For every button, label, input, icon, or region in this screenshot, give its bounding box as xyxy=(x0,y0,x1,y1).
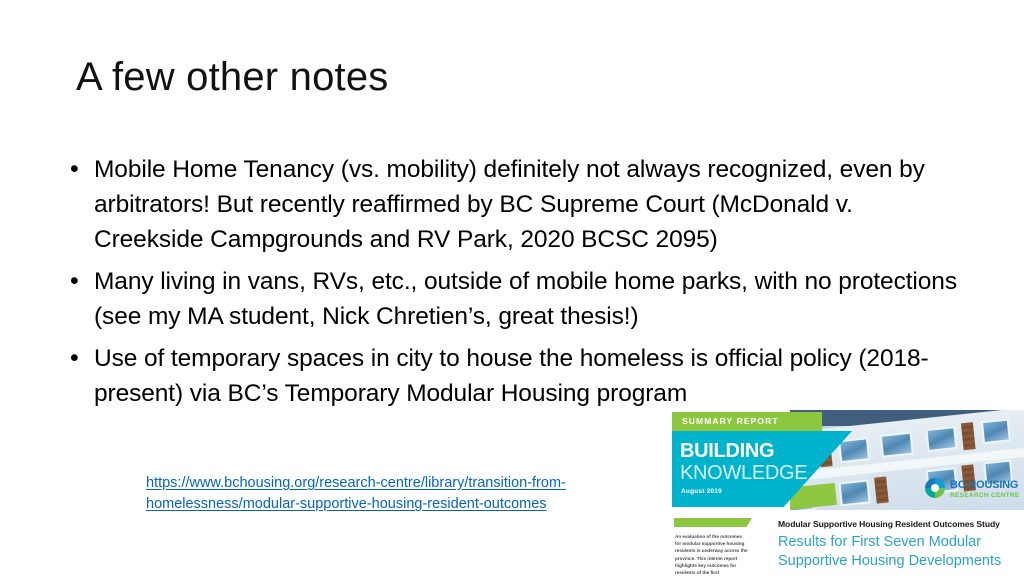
photo-window xyxy=(925,426,957,452)
bc-housing-logo-subtitle: RESEARCH CENTRE xyxy=(950,492,1020,499)
list-item: • Many living in vans, RVs, etc., outsid… xyxy=(70,264,960,334)
green-accent-bar xyxy=(674,518,752,527)
photo-window xyxy=(880,432,914,458)
slide-canvas: A few other notes • Mobile Home Tenancy … xyxy=(0,0,1024,576)
photo-window xyxy=(981,418,1011,444)
report-title-bold: BUILDING xyxy=(680,440,774,463)
summary-report-label: SUMMARY REPORT xyxy=(682,416,779,426)
report-blurb-text: An evaluation of the outcomes for modula… xyxy=(675,533,749,576)
list-item: • Mobile Home Tenancy (vs. mobility) def… xyxy=(70,152,960,257)
bullet-icon: • xyxy=(70,152,94,187)
bullet-icon: • xyxy=(70,264,94,299)
report-cover-header: SUMMARY REPORT BUILDING KNOWLEDGE August… xyxy=(670,410,1024,510)
photo-wood-panel xyxy=(874,477,889,504)
study-kicker-text: Modular Supportive Housing Resident Outc… xyxy=(778,519,1000,529)
report-title-panel: SUMMARY REPORT BUILDING KNOWLEDGE August… xyxy=(670,410,854,510)
page-title: A few other notes xyxy=(76,54,388,100)
bc-housing-logo-icon xyxy=(925,478,945,498)
report-cover-image: SUMMARY REPORT BUILDING KNOWLEDGE August… xyxy=(670,410,1024,576)
report-title-light: KNOWLEDGE xyxy=(680,462,807,485)
study-title-text: Results for First Seven Modular Supporti… xyxy=(778,533,1022,571)
bc-housing-logo: BC HOUSING RESEARCH CENTRE xyxy=(925,476,1021,506)
report-cover-body: An evaluation of the outcomes for modula… xyxy=(670,514,1024,576)
bullet-list: • Mobile Home Tenancy (vs. mobility) def… xyxy=(70,152,960,418)
source-link-block: https://www.bchousing.org/research-centr… xyxy=(146,473,646,515)
bc-housing-logo-name: BC HOUSING xyxy=(950,479,1018,491)
bullet-text: Use of temporary spaces in city to house… xyxy=(94,341,960,411)
bchousing-report-link[interactable]: https://www.bchousing.org/research-centr… xyxy=(146,475,566,512)
bullet-text: Many living in vans, RVs, etc., outside … xyxy=(94,264,960,334)
list-item: • Use of temporary spaces in city to hou… xyxy=(70,341,960,411)
photo-wood-panel xyxy=(961,422,976,450)
report-date: August 2019 xyxy=(681,488,722,495)
bullet-text: Mobile Home Tenancy (vs. mobility) defin… xyxy=(94,152,960,257)
bullet-icon: • xyxy=(70,341,94,376)
